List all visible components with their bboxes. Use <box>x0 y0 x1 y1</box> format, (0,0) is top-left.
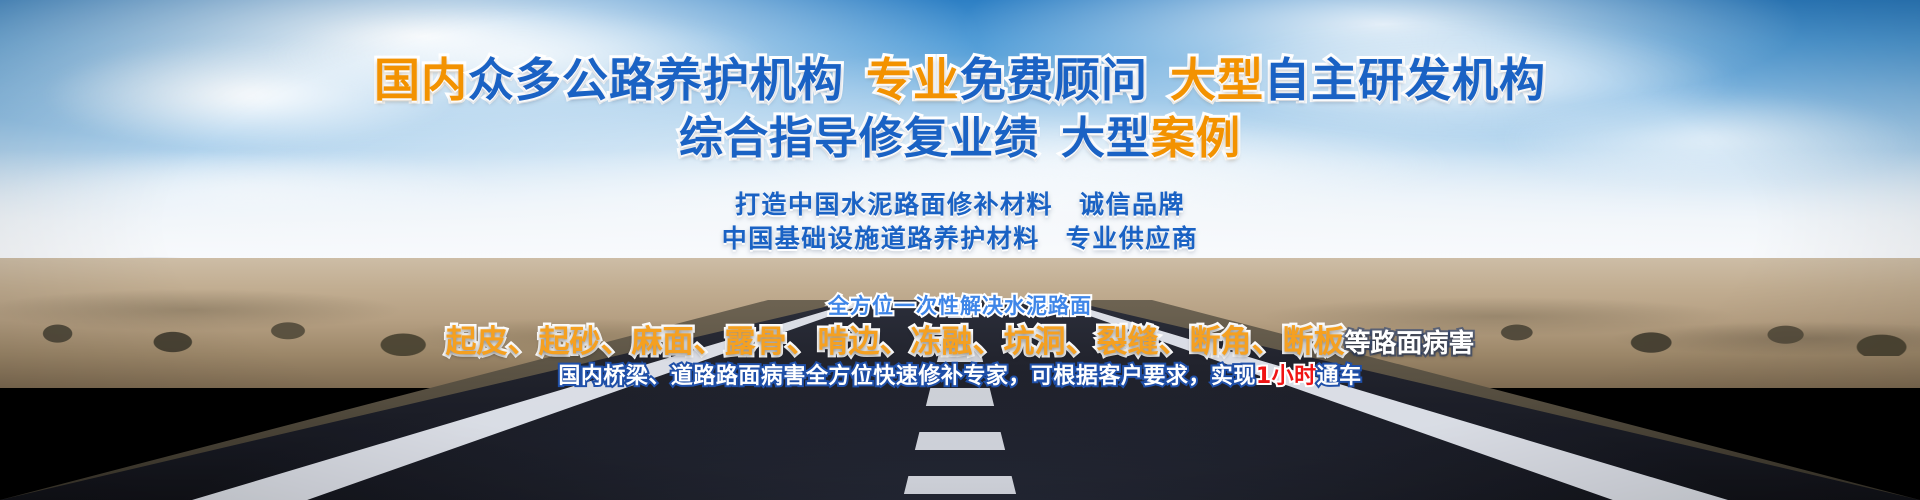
headline-2-seg-2: 大型 <box>1061 113 1151 164</box>
subtitle-line-1-main: 打造中国水泥路面修补材料 <box>735 190 1053 219</box>
damage-type-line: 起皮、起砂、麻面、露骨、啃边、冻融、坑洞、裂缝、断角、断板等路面病害 <box>0 316 1920 361</box>
promotional-banner: 国内众多公路养护机构专业免费顾问大型自主研发机构 综合指导修复业绩大型案例 打造… <box>0 0 1920 500</box>
subtitle-line-2-tag: 专业供应商 <box>1066 224 1199 253</box>
headline-1-seg-2: 众多公路养护机构 <box>468 53 844 107</box>
damage-type-suffix: 等路面病害 <box>1344 329 1474 359</box>
damage-type-list: 起皮、起砂、麻面、露骨、啃边、冻融、坑洞、裂缝、断角、断板 <box>445 324 1344 360</box>
headline-2-seg-1: 综合指导修复业绩 <box>679 113 1039 164</box>
headline-line-2: 综合指导修复业绩大型案例 <box>0 102 1920 166</box>
headline-1-seg-4: 免费顾问 <box>960 53 1148 107</box>
headline-1-seg-3: 专业 <box>866 53 960 107</box>
headline-2-seg-3: 案例 <box>1151 113 1241 164</box>
headline-line-1: 国内众多公路养护机构专业免费顾问大型自主研发机构 <box>0 44 1920 110</box>
subtitle-block: 打造中国水泥路面修补材料诚信品牌 中国基础设施道路养护材料专业供应商 <box>0 188 1920 256</box>
bottom-claim-tail: 通车 <box>1317 364 1362 389</box>
headline-1-seg-6: 自主研发机构 <box>1264 53 1546 107</box>
banner-content: 国内众多公路养护机构专业免费顾问大型自主研发机构 综合指导修复业绩大型案例 打造… <box>0 0 1920 500</box>
headline-1-seg-5: 大型 <box>1170 53 1264 107</box>
subtitle-line-1: 打造中国水泥路面修补材料诚信品牌 <box>0 188 1920 222</box>
subtitle-line-2: 中国基础设施道路养护材料专业供应商 <box>0 222 1920 256</box>
bottom-claim-text: 国内桥梁、道路路面病害全方位快速修补专家，可根据客户要求，实现 <box>558 364 1256 389</box>
headline-1-seg-1: 国内 <box>374 53 468 107</box>
subtitle-line-1-tag: 诚信品牌 <box>1079 190 1185 219</box>
bottom-claim-highlight: 1小时 <box>1256 364 1317 389</box>
subtitle-line-2-main: 中国基础设施道路养护材料 <box>722 224 1040 253</box>
bottom-claim-line: 国内桥梁、道路路面病害全方位快速修补专家，可根据客户要求，实现1小时通车 <box>0 358 1920 390</box>
